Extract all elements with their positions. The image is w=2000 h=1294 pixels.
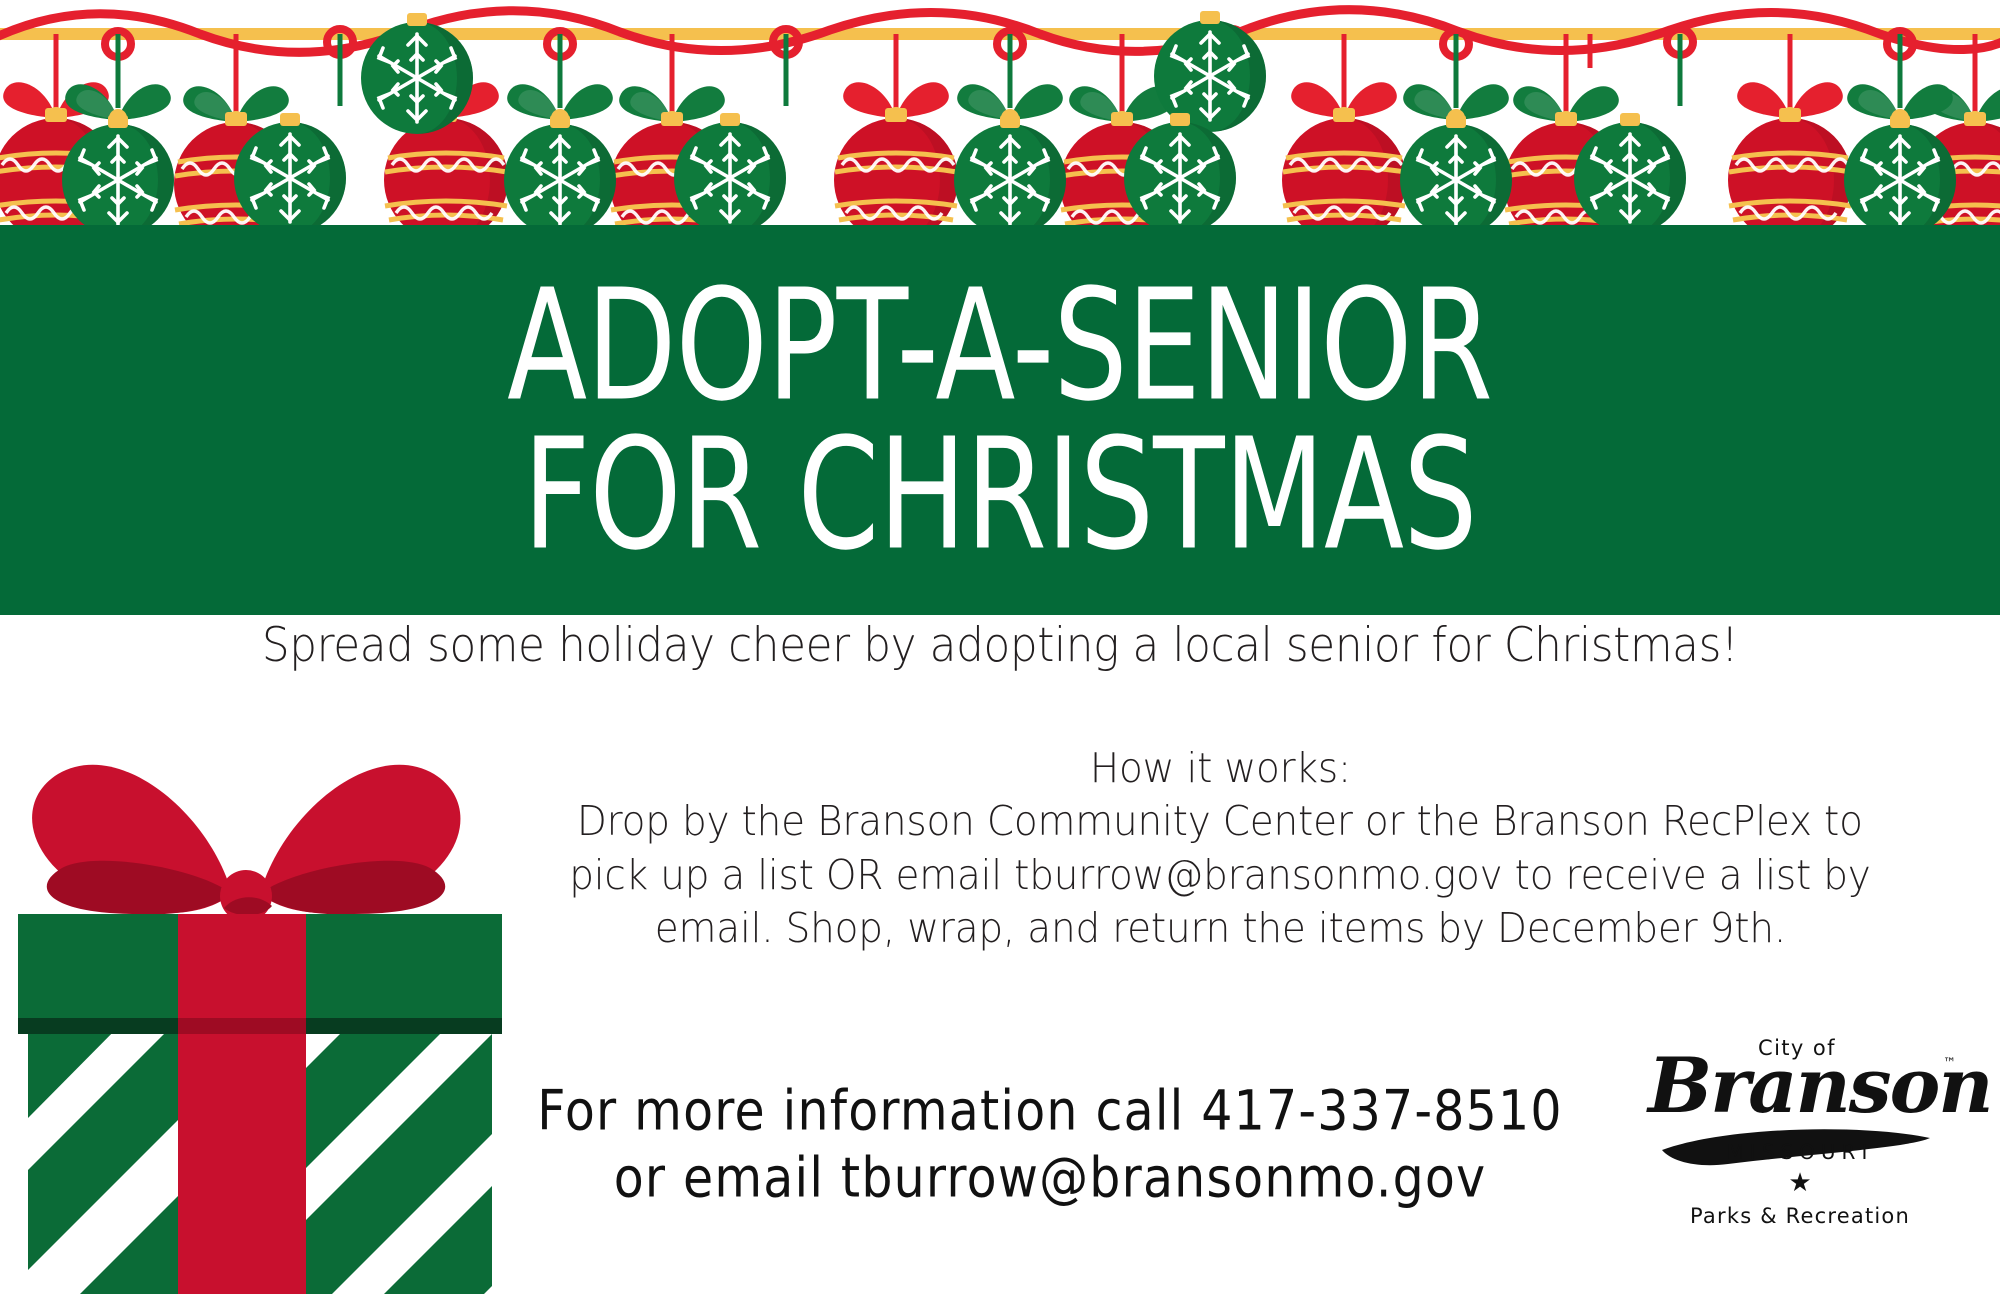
how-it-works-line-2: pick up a list OR email tburrow@bransonm… bbox=[520, 849, 1920, 902]
wrapped-gift-box-icon bbox=[10, 718, 510, 1294]
city-of-branson-parks-recreation-logo: City of Branson ™ MISSOURI ★ Parks & Rec… bbox=[1640, 1032, 1960, 1242]
how-it-works-heading-text: How it works: bbox=[1089, 742, 1350, 795]
logo-department-text: Parks & Recreation bbox=[1640, 1204, 1960, 1228]
how-it-works-heading: How it works: bbox=[520, 742, 1920, 795]
how-it-works-line-2-text: pick up a list OR email tburrow@bransonm… bbox=[569, 849, 1870, 902]
contact-email-line[interactable]: or email tburrow@bransonmo.gov bbox=[480, 1145, 1620, 1212]
tagline: Spread some holiday cheer by adopting a … bbox=[70, 618, 1930, 673]
contact-block: For more information call 417-337-8510 o… bbox=[480, 1078, 1620, 1212]
flyer-canvas: ADOPT-A-SENIOR FOR CHRISTMAS Spread some… bbox=[0, 0, 2000, 1294]
how-it-works-line-1-text: Drop by the Branson Community Center or … bbox=[577, 795, 1863, 848]
page-title-line-2: FOR CHRISTMAS bbox=[523, 419, 1477, 570]
christmas-ornament-garland bbox=[0, 0, 2000, 225]
title-banner: ADOPT-A-SENIOR FOR CHRISTMAS bbox=[0, 225, 2000, 615]
contact-phone-line[interactable]: For more information call 417-337-8510 bbox=[480, 1078, 1620, 1145]
logo-state-text: MISSOURI bbox=[1640, 1140, 1960, 1164]
how-it-works-line-3-text: email. Shop, wrap, and return the items … bbox=[654, 902, 1785, 955]
page-title-line-1: ADOPT-A-SENIOR bbox=[508, 270, 1493, 421]
how-it-works-block: How it works: Drop by the Branson Commun… bbox=[520, 742, 1920, 955]
trademark-icon: ™ bbox=[1943, 1056, 1956, 1071]
how-it-works-line-3: email. Shop, wrap, and return the items … bbox=[520, 902, 1920, 955]
star-icon: ★ bbox=[1640, 1170, 1960, 1196]
how-it-works-line-1: Drop by the Branson Community Center or … bbox=[520, 795, 1920, 848]
logo-branson-wordmark: Branson bbox=[1648, 1048, 1948, 1124]
